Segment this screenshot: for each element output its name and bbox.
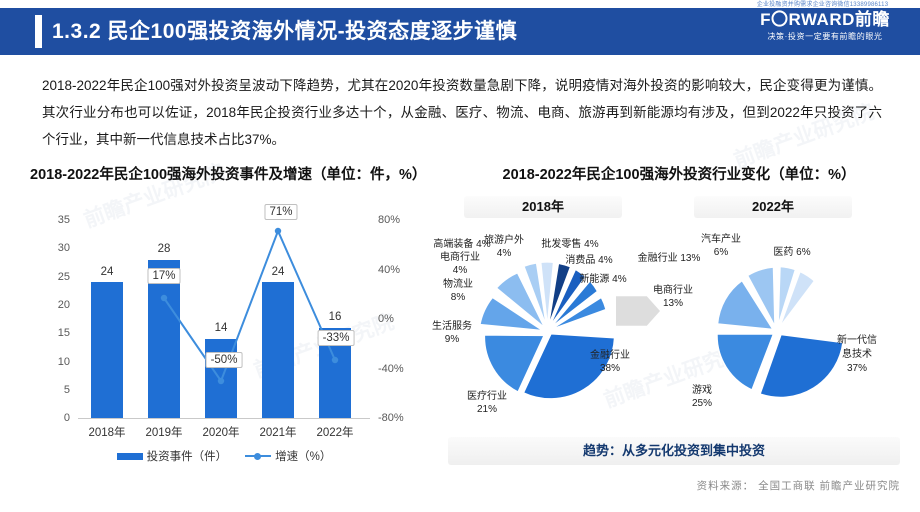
pie-label-tourism: 旅游户外 4% (472, 234, 536, 260)
brand-tagline: 决策·投资一定要有前瞻的眼光 (740, 31, 910, 42)
pie-label-value: 38% (600, 363, 620, 374)
pie-label-text: 旅游户外 (484, 235, 524, 246)
pie-label-newenergy: 新能源 4% (568, 273, 638, 286)
x-label-2020: 2020年 (191, 424, 251, 440)
brand-microcopy: 企业投融资并购需求企业咨询微信13389986113 (735, 0, 910, 8)
trend-banner: 趋势：从多元化投资到集中投资 (448, 437, 900, 465)
pie-label-value: 13% (663, 298, 683, 309)
pie-label-newinfo: 新一代信 息技术 37% (830, 334, 884, 376)
pie-label-text: 息技术 (842, 349, 872, 360)
pie-label-value: 4% (584, 239, 598, 250)
pie-label-text: 高端装备 (433, 239, 473, 250)
growth-callout-2021: 71% (264, 204, 297, 220)
pie-label-pharma: 医药 6% (757, 246, 827, 259)
pie-label-text: 医疗行业 (467, 391, 507, 402)
pie-label-value: 9% (445, 334, 459, 345)
legend-label-bar: 投资事件（件） (147, 448, 228, 464)
right-chart-title: 2018-2022年民企100强海外投资行业变化（单位：%） (448, 166, 910, 185)
plot-area: 24 28 14 24 16 17% -50% 71% -33% (78, 220, 366, 418)
pie-label-finance-2022: 金融行业 13% (622, 252, 716, 265)
growth-callout-2022: -33% (318, 330, 355, 346)
growth-callout-2019: 17% (147, 268, 180, 284)
pie-label-value: 25% (692, 398, 712, 409)
tab-2018[interactable]: 2018年 (464, 196, 622, 218)
pie-label-value: 4% (598, 255, 612, 266)
y-tick: 20 (30, 299, 70, 311)
growth-line-series (78, 220, 366, 418)
header-accent-bar (35, 15, 42, 48)
pie-label-text: 新能源 (579, 274, 609, 285)
y2-tick: 80% (378, 214, 428, 226)
pie-label-text: 游戏 (692, 385, 712, 396)
pie-label-consumer: 消费品 4% (554, 254, 624, 267)
x-label-2018: 2018年 (77, 424, 137, 440)
pie-label-logistics: 物流业 8% (420, 278, 496, 304)
y-tick: 35 (30, 214, 70, 226)
x-label-2022: 2022年 (305, 424, 365, 440)
body-paragraph: 2018-2022年民企100强对外投资呈波动下降趋势，尤其在2020年投资数量… (42, 72, 882, 153)
y2-tick: -40% (378, 363, 428, 375)
pie-label-text: 金融行业 (638, 253, 678, 264)
pie-label-value: 4% (497, 248, 511, 259)
pie-label-text: 汽车产业 (701, 234, 741, 245)
legend-swatch-bar (117, 453, 143, 460)
pie-label-wholesale: 批发零售 4% (528, 238, 612, 251)
slide-page: 前瞻产业研究院 前瞻产业研究院 前瞻产业研究院 前瞻产业研究院 1.3.2 民企… (0, 0, 920, 512)
pie-label-text: 电商行业 (653, 285, 693, 296)
y-tick: 15 (30, 327, 70, 339)
brand-name: F〇RWARD前瞻 (740, 10, 910, 29)
y2-tick: 40% (378, 264, 428, 276)
left-chart-title: 2018-2022年民企100强海外投资事件及增速（单位：件，%） (30, 166, 420, 185)
pie-label-game: 游戏 25% (672, 384, 732, 410)
page-title: 1.3.2 民企100强投资海外情况-投资态度逐步谨慎 (52, 16, 517, 47)
pie-label-ecommerce-2022: 电商行业 13% (640, 284, 706, 310)
x-label-2021: 2021年 (248, 424, 308, 440)
y-tick: 30 (30, 242, 70, 254)
pie-label-value: 37% (847, 363, 867, 374)
pie-label-text: 生活服务 (432, 321, 472, 332)
pie-label-value: 13% (680, 253, 700, 264)
pie-label-value: 4% (453, 265, 467, 276)
y-tick: 5 (30, 384, 70, 396)
legend-swatch-line (245, 455, 271, 457)
brand-logo: F〇RWARD前瞻 决策·投资一定要有前瞻的眼光 (740, 10, 910, 42)
pie-label-value: 21% (477, 404, 497, 415)
legend-label-line: 增速（%） (275, 448, 331, 464)
y-tick: 0 (30, 412, 70, 424)
left-chart-legend: 投资事件（件）增速（%） (78, 448, 370, 464)
pie-label-text: 医药 (773, 247, 793, 258)
pie-label-text: 金融行业 (590, 350, 630, 361)
pie-label-value: 6% (796, 247, 810, 258)
tab-2022[interactable]: 2022年 (694, 196, 852, 218)
y-tick: 10 (30, 356, 70, 368)
x-label-2019: 2019年 (134, 424, 194, 440)
source-note: 资料来源： 全国工商联 前瞻产业研究院 (448, 478, 906, 493)
right-pie-panel: 2018年 2022年 (444, 196, 914, 456)
pie-label-text: 新一代信 (837, 335, 877, 346)
pie-label-value: 4% (612, 274, 626, 285)
pie-label-finance-2018: 金融行业 38% (572, 349, 648, 375)
pie-label-text: 物流业 (443, 279, 473, 290)
growth-callout-2020: -50% (206, 352, 243, 368)
pie-label-life-service: 生活服务 9% (414, 320, 490, 346)
pie-label-value: 8% (451, 292, 465, 303)
pie-label-text: 批发零售 (541, 239, 581, 250)
x-axis-line (78, 418, 370, 419)
y2-tick: -80% (378, 412, 428, 424)
pie-label-medical: 医疗行业 21% (449, 390, 525, 416)
y-tick: 25 (30, 271, 70, 283)
pie-label-text: 消费品 (565, 255, 595, 266)
left-bar-line-chart: 35 30 25 20 15 10 5 0 80% 40% 0% -40% -8… (30, 210, 430, 465)
